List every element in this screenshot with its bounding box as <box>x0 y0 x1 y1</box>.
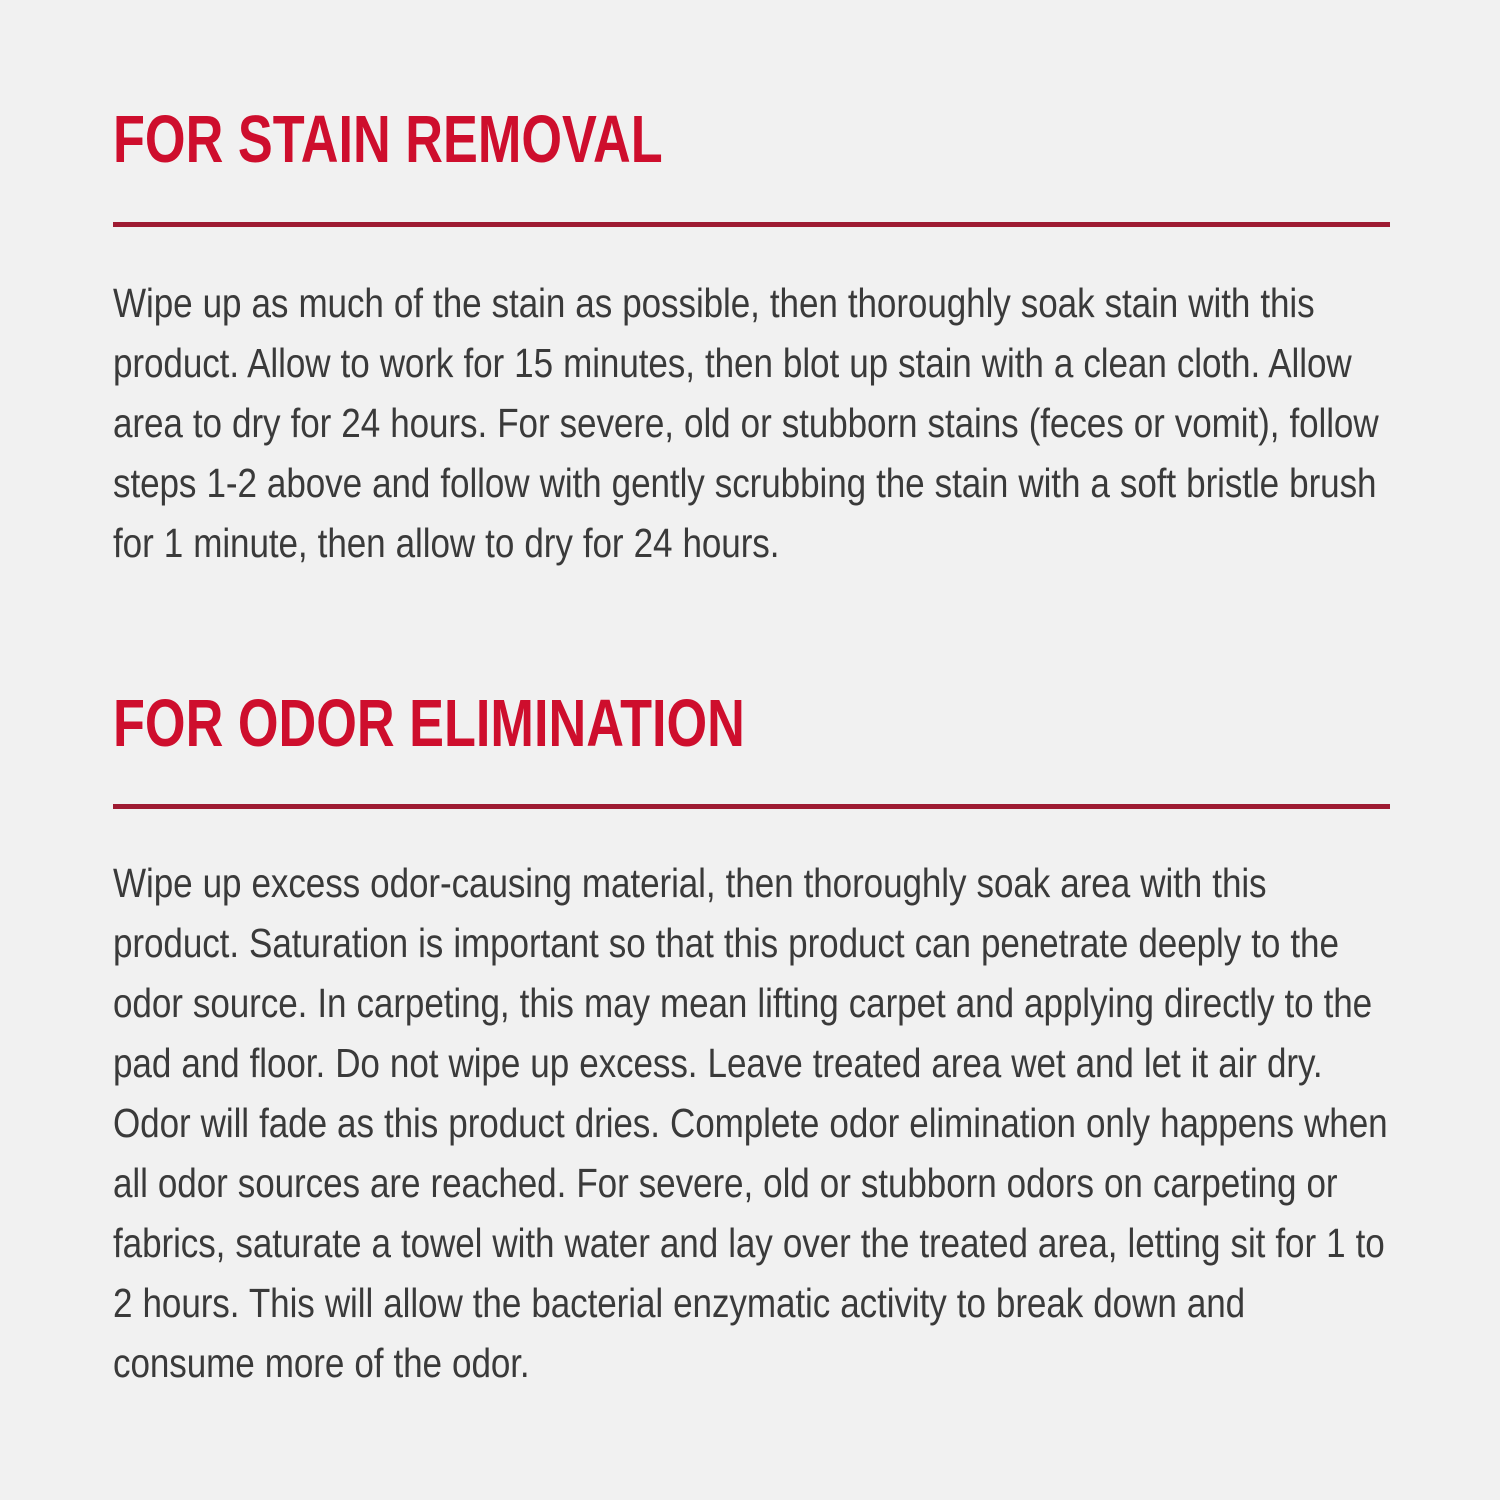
section-odor-elimination: FOR ODOR ELIMINATION Wipe up excess odor… <box>113 690 1390 1393</box>
section-heading-odor-elimination: FOR ODOR ELIMINATION <box>113 690 1109 758</box>
section-body-stain-removal: Wipe up as much of the stain as possible… <box>113 273 1390 573</box>
section-body-odor-elimination: Wipe up excess odor-causing material, th… <box>113 853 1390 1393</box>
section-stain-removal: FOR STAIN REMOVAL Wipe up as much of the… <box>113 106 1390 573</box>
section-divider-stain-removal <box>113 222 1390 227</box>
section-heading-stain-removal: FOR STAIN REMOVAL <box>113 106 1109 174</box>
instructions-page: FOR STAIN REMOVAL Wipe up as much of the… <box>0 0 1500 1500</box>
section-divider-odor-elimination <box>113 804 1390 809</box>
